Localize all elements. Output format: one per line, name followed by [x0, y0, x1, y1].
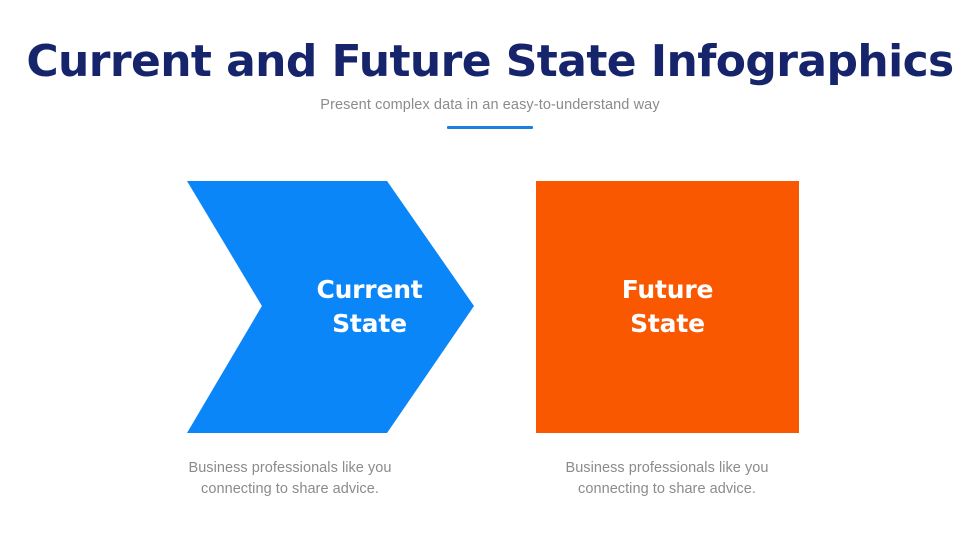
- caption-future-state: Business professionals like you connecti…: [527, 458, 807, 499]
- shape-label-current-state: Current State: [316, 273, 422, 341]
- caption-current-state: Business professionals like you connecti…: [150, 458, 430, 499]
- infographic-diagram: Current State Future State: [0, 181, 980, 433]
- page-title: Current and Future State Infographics: [0, 38, 980, 86]
- shape-label-future-state: Future State: [622, 273, 713, 341]
- title-divider: [447, 126, 533, 129]
- diagram-shape-current-state[interactable]: Current State: [187, 181, 474, 433]
- caption-row: Business professionals like you connecti…: [0, 458, 980, 518]
- slide-canvas: Current and Future State Infographics Pr…: [0, 0, 980, 551]
- diagram-shape-future-state[interactable]: Future State: [536, 181, 799, 433]
- slide-header: Current and Future State Infographics Pr…: [0, 38, 980, 129]
- page-subtitle: Present complex data in an easy-to-under…: [0, 86, 980, 114]
